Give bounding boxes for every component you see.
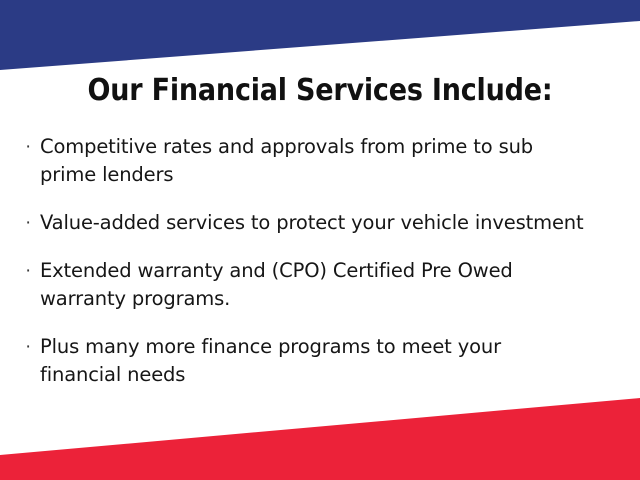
bullet-dot-icon: · (22, 333, 40, 361)
list-item-label: Plus many more finance programs to meet … (40, 333, 620, 389)
services-bullet-list: · Competitive rates and approvals from p… (22, 133, 620, 389)
page-title: Our Financial Services Include: (0, 74, 640, 108)
list-item-label: Extended warranty and (CPO) Certified Pr… (40, 257, 620, 313)
slide-canvas: Our Financial Services Include: · Compet… (0, 0, 640, 480)
red-banner-shape (0, 398, 640, 480)
red-angled-banner (0, 390, 640, 480)
list-item: · Competitive rates and approvals from p… (22, 133, 620, 189)
blue-angled-banner (0, 0, 640, 76)
list-item: · Extended warranty and (CPO) Certified … (22, 257, 620, 313)
list-item: · Value-added services to protect your v… (22, 209, 620, 237)
bullet-dot-icon: · (22, 209, 40, 237)
blue-banner-shape (0, 0, 640, 70)
list-item-label: Competitive rates and approvals from pri… (40, 133, 620, 189)
bullet-dot-icon: · (22, 257, 40, 285)
bullet-dot-icon: · (22, 133, 40, 161)
list-item-label: Value-added services to protect your veh… (40, 209, 620, 237)
list-item: · Plus many more finance programs to mee… (22, 333, 620, 389)
